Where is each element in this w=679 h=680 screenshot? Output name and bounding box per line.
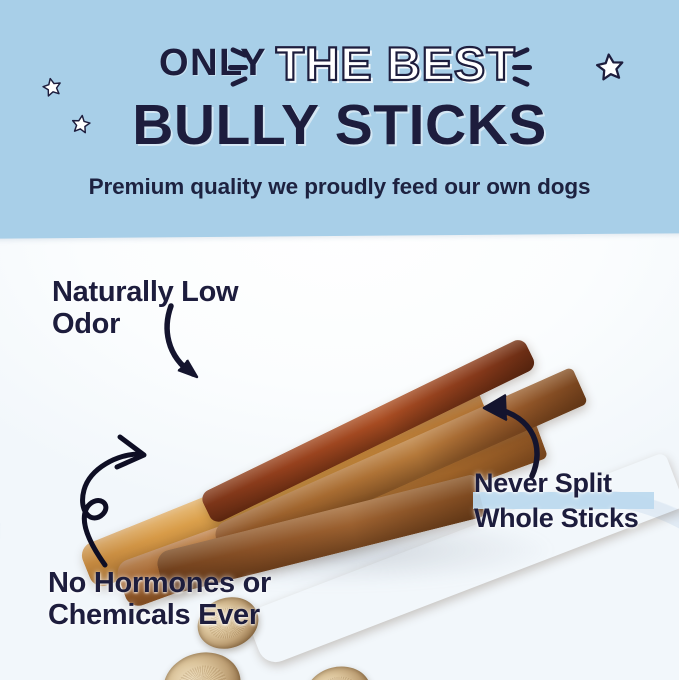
burst-right-icon xyxy=(508,48,534,88)
star-icon-small-lower-left xyxy=(69,112,94,137)
curved-arrow-up-left-icon xyxy=(470,390,565,480)
callout-no-hormones: No Hormones or Chemicals Ever xyxy=(48,567,271,632)
headline-line-1: ONLY THE BEST xyxy=(0,36,679,91)
burst-left-icon xyxy=(228,48,254,88)
headline-line-2: BULLY STICKS xyxy=(0,92,679,158)
star-icon-large-right xyxy=(592,49,627,84)
headline-word-the-best: THE BEST xyxy=(276,36,516,91)
stick-cut-end-4 xyxy=(300,660,377,680)
star-icon-small-left xyxy=(39,74,65,100)
stick-cut-end-2 xyxy=(156,643,249,680)
looped-arrow-up-right-icon xyxy=(72,424,182,569)
curved-arrow-down-right-icon xyxy=(160,300,240,390)
product-infographic: ONLY THE BEST BULLY STICKS Premium quali… xyxy=(0,0,679,680)
header-subtitle: Premium quality we proudly feed our own … xyxy=(0,174,679,200)
header-banner: ONLY THE BEST BULLY STICKS Premium quali… xyxy=(0,0,679,239)
